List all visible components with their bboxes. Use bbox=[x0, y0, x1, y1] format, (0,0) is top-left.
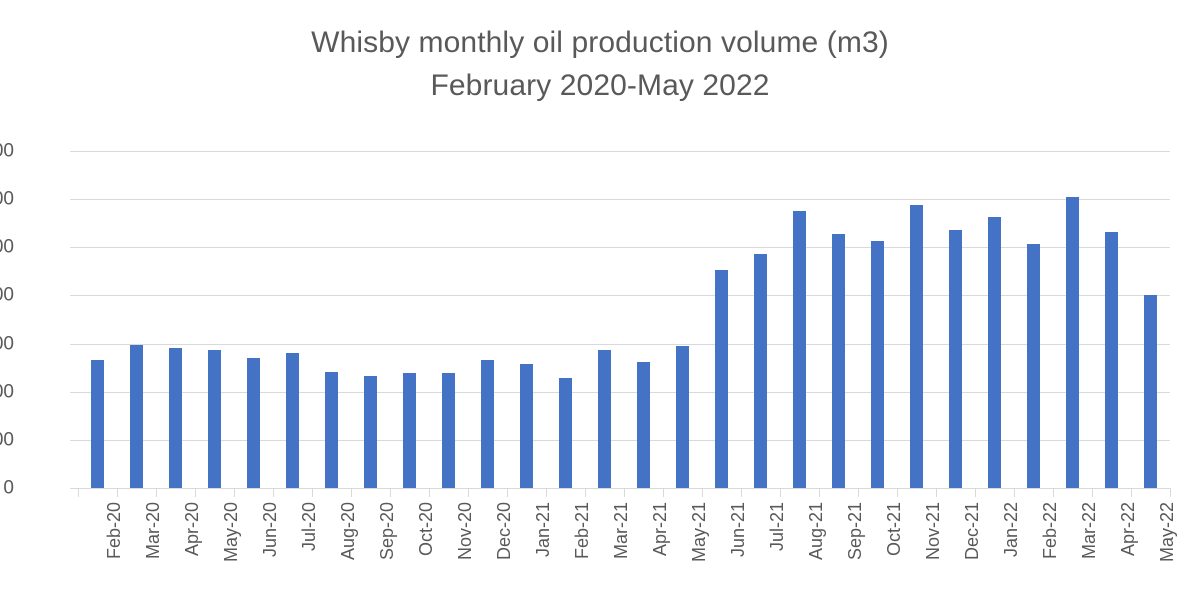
bar bbox=[832, 234, 845, 488]
x-axis-tick-label: Apr-20 bbox=[183, 502, 201, 556]
y-axis-tick-mark bbox=[70, 392, 78, 393]
gridline bbox=[78, 440, 1170, 441]
bar bbox=[676, 346, 689, 489]
bar bbox=[91, 360, 104, 488]
x-axis-tick-mark bbox=[117, 488, 118, 497]
x-axis-tick-mark bbox=[1092, 488, 1093, 497]
bar bbox=[949, 230, 962, 488]
x-axis-tick-label: Feb-20 bbox=[105, 502, 123, 559]
bar bbox=[208, 350, 221, 488]
y-axis-tick-label: 600 bbox=[0, 190, 14, 209]
x-axis-tick-label: May-22 bbox=[1158, 502, 1176, 562]
chart-title: Whisby monthly oil production volume (m3… bbox=[0, 22, 1200, 107]
x-axis-tick-label: Mar-21 bbox=[612, 502, 630, 559]
x-axis-tick-mark bbox=[819, 488, 820, 497]
x-axis-tick-label: Nov-20 bbox=[456, 502, 474, 560]
chart-title-line-2: February 2020-May 2022 bbox=[0, 65, 1200, 108]
x-axis-tick-label: Jan-21 bbox=[534, 502, 552, 557]
x-axis-tick-label: Jul-21 bbox=[768, 502, 786, 551]
x-axis-tick-mark bbox=[312, 488, 313, 497]
x-axis-tick-mark bbox=[507, 488, 508, 497]
bar bbox=[247, 358, 260, 488]
x-axis-tick-label: Apr-21 bbox=[651, 502, 669, 556]
x-axis-tick-mark bbox=[468, 488, 469, 497]
x-axis-tick-mark bbox=[78, 488, 79, 497]
bar bbox=[442, 373, 455, 488]
bar bbox=[793, 211, 806, 488]
x-axis-tick-label: Dec-20 bbox=[495, 502, 513, 560]
bar bbox=[871, 241, 884, 488]
bar bbox=[1105, 232, 1118, 488]
x-axis-tick-label: Sep-20 bbox=[378, 502, 396, 560]
x-axis-tick-mark bbox=[897, 488, 898, 497]
bar bbox=[910, 205, 923, 488]
bar bbox=[1066, 197, 1079, 488]
bar bbox=[169, 348, 182, 488]
bar bbox=[754, 254, 767, 488]
x-axis-tick-label: Oct-21 bbox=[885, 502, 903, 556]
y-axis-tick-mark bbox=[70, 440, 78, 441]
y-axis: 7006005004003002001000 bbox=[0, 0, 78, 600]
y-axis-tick-mark bbox=[70, 344, 78, 345]
x-axis-tick-label: Aug-21 bbox=[807, 502, 825, 560]
y-axis-tick-mark bbox=[70, 488, 78, 489]
gridline bbox=[78, 295, 1170, 296]
x-axis-tick-label: Jul-20 bbox=[300, 502, 318, 551]
y-axis-tick-label: 200 bbox=[0, 382, 14, 401]
gridline bbox=[78, 199, 1170, 200]
gridline bbox=[78, 151, 1170, 152]
x-axis-tick-label: Feb-21 bbox=[573, 502, 591, 559]
bar bbox=[130, 345, 143, 488]
x-axis-tick-mark bbox=[429, 488, 430, 497]
bar-chart: Whisby monthly oil production volume (m3… bbox=[0, 0, 1200, 600]
y-axis-tick-mark bbox=[70, 199, 78, 200]
x-axis-tick-mark bbox=[1170, 488, 1171, 497]
x-axis-tick-mark bbox=[624, 488, 625, 497]
x-axis-tick-mark bbox=[351, 488, 352, 497]
x-axis-tick-mark bbox=[936, 488, 937, 497]
x-axis-tick-label: Apr-22 bbox=[1119, 502, 1137, 556]
x-axis: Feb-20Mar-20Apr-20May-20Jun-20Jul-20Aug-… bbox=[78, 488, 1170, 600]
x-axis-tick-label: Aug-20 bbox=[339, 502, 357, 560]
x-axis-tick-label: Mar-22 bbox=[1080, 502, 1098, 559]
x-axis-tick-label: May-20 bbox=[222, 502, 240, 562]
x-axis-tick-label: Jan-22 bbox=[1002, 502, 1020, 557]
x-axis-tick-mark bbox=[546, 488, 547, 497]
y-axis-tick-label: 300 bbox=[0, 334, 14, 353]
y-axis-tick-label: 0 bbox=[3, 479, 14, 498]
y-axis-tick-mark bbox=[70, 247, 78, 248]
gridline bbox=[78, 344, 1170, 345]
bar bbox=[325, 372, 338, 488]
x-axis-tick-mark bbox=[195, 488, 196, 497]
bar bbox=[715, 270, 728, 488]
x-axis-tick-label: Oct-20 bbox=[417, 502, 435, 556]
y-axis-tick-mark bbox=[70, 295, 78, 296]
x-axis-tick-mark bbox=[741, 488, 742, 497]
bar bbox=[520, 364, 533, 488]
x-axis-tick-label: Jun-20 bbox=[261, 502, 279, 557]
y-axis-tick-label: 100 bbox=[0, 430, 14, 449]
bar bbox=[637, 362, 650, 488]
bar bbox=[1027, 244, 1040, 488]
x-axis-tick-mark bbox=[273, 488, 274, 497]
x-axis-tick-mark bbox=[1053, 488, 1054, 497]
bar bbox=[559, 378, 572, 488]
x-axis-tick-mark bbox=[156, 488, 157, 497]
x-axis-tick-mark bbox=[585, 488, 586, 497]
x-axis-tick-mark bbox=[975, 488, 976, 497]
y-axis-tick-label: 400 bbox=[0, 286, 14, 305]
x-axis-tick-label: Jun-21 bbox=[729, 502, 747, 557]
y-axis-tick-label: 700 bbox=[0, 142, 14, 161]
x-axis-tick-mark bbox=[390, 488, 391, 497]
y-axis-tick-mark bbox=[70, 151, 78, 152]
chart-title-line-1: Whisby monthly oil production volume (m3… bbox=[0, 22, 1200, 65]
x-axis-tick-mark bbox=[1014, 488, 1015, 497]
x-axis-tick-mark bbox=[663, 488, 664, 497]
x-axis-tick-label: Sep-21 bbox=[846, 502, 864, 560]
bar bbox=[988, 217, 1001, 488]
x-axis-tick-label: May-21 bbox=[690, 502, 708, 562]
x-axis-tick-mark bbox=[234, 488, 235, 497]
bar bbox=[403, 373, 416, 488]
x-axis-tick-label: Feb-22 bbox=[1041, 502, 1059, 559]
bar bbox=[364, 376, 377, 488]
gridline bbox=[78, 392, 1170, 393]
plot-area bbox=[78, 151, 1170, 488]
x-axis-tick-label: Mar-20 bbox=[144, 502, 162, 559]
x-axis-tick-mark bbox=[702, 488, 703, 497]
x-axis-tick-mark bbox=[858, 488, 859, 497]
bar bbox=[481, 360, 494, 488]
x-axis-tick-label: Nov-21 bbox=[924, 502, 942, 560]
x-axis-tick-label: Dec-21 bbox=[963, 502, 981, 560]
y-axis-tick-label: 500 bbox=[0, 238, 14, 257]
bar bbox=[598, 350, 611, 488]
x-axis-tick-mark bbox=[780, 488, 781, 497]
gridline bbox=[78, 247, 1170, 248]
bar bbox=[1144, 295, 1157, 488]
x-axis-tick-mark bbox=[1131, 488, 1132, 497]
bar bbox=[286, 353, 299, 488]
